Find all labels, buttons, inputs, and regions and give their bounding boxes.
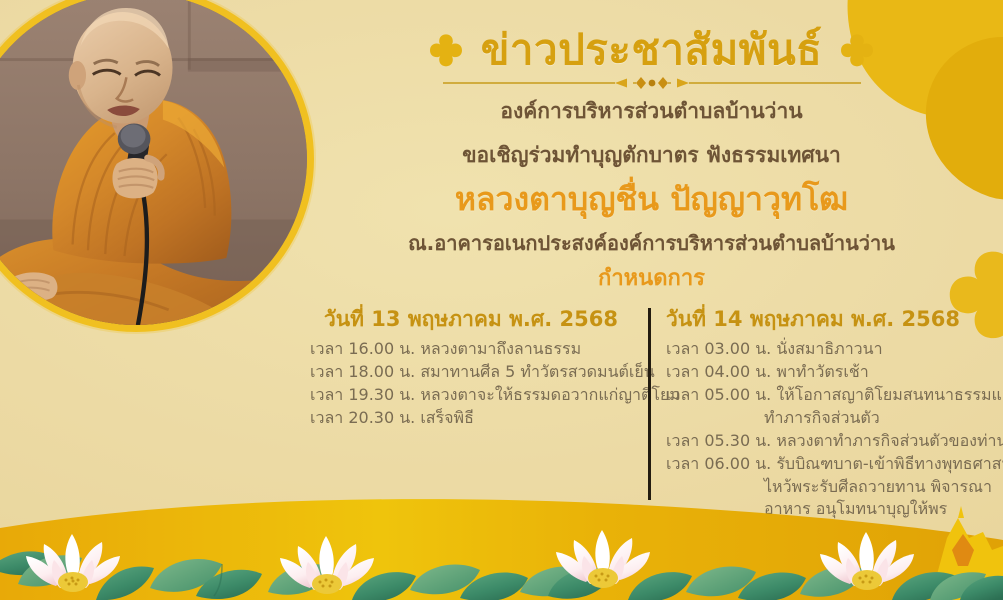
schedule-section: วันที่ 13 พฤษภาคม พ.ศ. 2568 เวลา 16.00 น…: [300, 306, 1003, 516]
schedule-column-day1: วันที่ 13 พฤษภาคม พ.ศ. 2568 เวลา 16.00 น…: [300, 306, 648, 516]
schedule-item-continuation: ทำภารกิจส่วนตัว: [666, 407, 997, 430]
schedule-item-text: เวลา 16.00 น. หลวงตามาถึงลานธรรม: [310, 339, 581, 358]
schedule-item: เวลา 16.00 น. หลวงตามาถึงลานธรรม: [310, 338, 642, 361]
schedule-item-text: เวลา 05.30 น. หลวงตาทำภารกิจส่วนตัวของท่…: [666, 431, 1003, 450]
schedule-item-text: เวลา 03.00 น. นั่งสมาธิภาวนา: [666, 339, 883, 358]
monk-name: หลวงตาบุญชื่น ปัญญาวุทโฒ: [300, 180, 1003, 218]
title-row: ข่าวประชาสัมพันธ์: [300, 0, 1003, 73]
monk-photo-frame: [0, 0, 314, 332]
ornamental-divider-icon: [437, 75, 867, 91]
venue-text: ณ.อาคารอเนกประสงค์องค์การบริหารส่วนตำบลบ…: [300, 230, 1003, 257]
schedule-item: เวลา 05.30 น. หลวงตาทำภารกิจส่วนตัวของท่…: [666, 430, 997, 453]
schedule-item: เวลา 18.00 น. สมาทานศีล 5 ทำวัตรสวดมนต์เ…: [310, 361, 642, 384]
schedule-item-text: เวลา 05.00 น. ให้โอกาสญาติโยมสนทนาธรรมแล…: [666, 385, 1003, 404]
schedule-column-day2: วันที่ 14 พฤษภาคม พ.ศ. 2568 เวลา 03.00 น…: [648, 306, 1003, 516]
event-poster: ข่าวประชาสัมพันธ์ องค์การบริหารส่วนตำบลบ…: [0, 0, 1003, 600]
lotus-border-decoration: [0, 488, 1003, 600]
schedule-item: เวลา 03.00 น. นั่งสมาธิภาวนา: [666, 338, 997, 361]
schedule-item: เวลา 05.00 น. ให้โอกาสญาติโยมสนทนาธรรมแล…: [666, 384, 997, 430]
invitation-text: ขอเชิญร่วมทำบุญตักบาตร ฟังธรรมเทศนา: [300, 141, 1003, 169]
organization-name: องค์การบริหารส่วนตำบลบ้านว่าน: [300, 97, 1003, 125]
schedule-item: เวลา 20.30 น. เสร็จพิธี: [310, 407, 642, 430]
quatrefoil-left-icon: [429, 33, 463, 67]
monk-portrait-illustration: [0, 0, 307, 325]
schedule-item-text: เวลา 04.00 น. พาทำวัตรเช้า: [666, 362, 869, 381]
quatrefoil-right-icon: [840, 33, 874, 67]
day2-date-title: วันที่ 14 พฤษภาคม พ.ศ. 2568: [666, 306, 997, 333]
schedule-heading: กำหนดการ: [300, 265, 1003, 294]
day1-date-title: วันที่ 13 พฤษภาคม พ.ศ. 2568: [310, 306, 642, 333]
schedule-item: เวลา 04.00 น. พาทำวัตรเช้า: [666, 361, 997, 384]
monk-photo: [0, 0, 307, 325]
schedule-item-text: เวลา 18.00 น. สมาทานศีล 5 ทำวัตรสวดมนต์เ…: [310, 362, 655, 381]
page-title: ข่าวประชาสัมพันธ์: [481, 26, 823, 73]
schedule-item-text: เวลา 19.30 น. หลวงตาจะให้ธรรมดอวากแก่ญาต…: [310, 385, 680, 404]
schedule-item-text: เวลา 20.30 น. เสร็จพิธี: [310, 408, 474, 427]
lotus-border-illustration: [0, 488, 1003, 600]
schedule-item-text: เวลา 06.00 น. รับบิณฑบาต-เข้าพิธีทางพุทธ…: [666, 454, 1003, 473]
schedule-item: เวลา 19.30 น. หลวงตาจะให้ธรรมดอวากแก่ญาต…: [310, 384, 642, 407]
